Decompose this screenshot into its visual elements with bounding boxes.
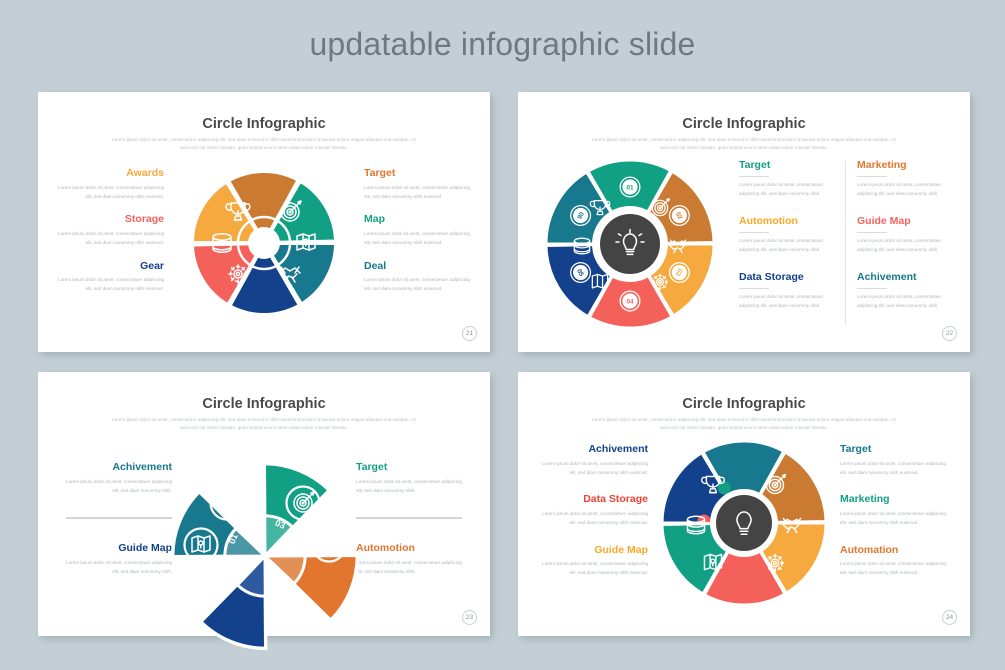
list-item[interactable]: Target Lorem ipsum dolor sit amet, conse… bbox=[840, 444, 946, 477]
list-item[interactable]: Awards Lorem ipsum dolor sit amet, conse… bbox=[58, 168, 164, 201]
item-label: Awards bbox=[58, 168, 164, 180]
list-item[interactable]: Marketing Lorem ipsum dolor sit amet, co… bbox=[840, 494, 946, 527]
left-column: Achivement Lorem ipsum dolor sit amet, c… bbox=[542, 444, 648, 578]
item-body: Lorem ipsum dolor sit amet, consectetuer… bbox=[840, 460, 946, 478]
item-body: Lorem ipsum dolor sit amet, consectetuer… bbox=[857, 293, 957, 311]
list-item[interactable]: Guide Map Lorem ipsum dolor sit amet, co… bbox=[857, 216, 957, 255]
center-disc bbox=[600, 214, 660, 274]
item-body: Lorem ipsum dolor sit amet, consectetuer… bbox=[857, 237, 957, 255]
list-item[interactable]: Guide Map Lorem ipsum dolor sit amet, co… bbox=[66, 543, 172, 576]
item-body: Lorem ipsum dolor sit amet, consectetuer… bbox=[364, 230, 470, 248]
right-text-column: Marketing Lorem ipsum dolor sit amet, co… bbox=[857, 160, 957, 311]
item-label: Achivement bbox=[66, 462, 172, 474]
divider bbox=[739, 288, 769, 290]
list-item[interactable]: Automotion Lorem ipsum dolor sit amet, c… bbox=[739, 216, 835, 255]
slide-subtitle: Lorem ipsum dolor sit amet, consectetuer… bbox=[589, 416, 899, 433]
semi-number-04: 04 bbox=[290, 532, 303, 545]
list-item[interactable]: Automotion Lorem ipsum dolor sit amet, c… bbox=[356, 543, 462, 576]
item-label: Guide Map bbox=[857, 216, 957, 228]
slide-title: Circle Infographic bbox=[38, 116, 490, 132]
semicircle-chart-23[interactable]: 01 02 03 04 bbox=[167, 456, 363, 566]
divider bbox=[857, 288, 887, 290]
item-body: Lorem ipsum dolor sit amet, consectetuer… bbox=[364, 184, 470, 202]
item-label: Achivement bbox=[857, 272, 957, 284]
slide-title: Circle Infographic bbox=[518, 396, 970, 412]
slide-title: Circle Infographic bbox=[518, 116, 970, 132]
item-body: Lorem ipsum dolor sit amet, consectetuer… bbox=[356, 478, 462, 496]
divider bbox=[66, 517, 172, 519]
semi-number-02: 02 bbox=[243, 518, 256, 531]
divider bbox=[857, 232, 887, 234]
item-body: Lorem ipsum dolor sit amet, consectetuer… bbox=[58, 230, 164, 248]
item-body: Lorem ipsum dolor sit amet, consectetuer… bbox=[364, 276, 470, 294]
right-column: Target Lorem ipsum dolor sit amet, conse… bbox=[364, 168, 470, 294]
slide-deck-canvas: updatable infographic slide Circle Infog… bbox=[0, 0, 1005, 670]
list-item[interactable]: Automation Lorem ipsum dolor sit amet, c… bbox=[840, 545, 946, 578]
slide-21[interactable]: Circle Infographic Lorem ipsum dolor sit… bbox=[38, 92, 490, 352]
item-label: Automotion bbox=[739, 216, 835, 228]
list-item[interactable]: Data Storage Lorem ipsum dolor sit amet,… bbox=[739, 272, 835, 311]
item-body: Lorem ipsum dolor sit amet, consectetuer… bbox=[58, 184, 164, 202]
page-number-badge: 22 bbox=[942, 326, 957, 341]
list-item[interactable]: Guide Map Lorem ipsum dolor sit amet, co… bbox=[542, 545, 648, 578]
slide-title: Circle Infographic bbox=[38, 396, 490, 412]
list-item[interactable]: Target Lorem ipsum dolor sit amet, conse… bbox=[364, 168, 470, 201]
center-disc bbox=[716, 495, 772, 551]
item-label: Data Storage bbox=[542, 494, 648, 506]
item-label: Target bbox=[356, 462, 462, 474]
item-label: Target bbox=[364, 168, 470, 180]
list-item[interactable]: Deal Lorem ipsum dolor sit amet, consect… bbox=[364, 261, 470, 294]
list-item[interactable]: Achivement Lorem ipsum dolor sit amet, c… bbox=[857, 272, 957, 311]
item-label: Automotion bbox=[356, 543, 462, 555]
pie-chart-21[interactable] bbox=[189, 168, 339, 318]
divider bbox=[739, 176, 769, 178]
inner-hub bbox=[248, 227, 280, 259]
list-item[interactable]: Achivement Lorem ipsum dolor sit amet, c… bbox=[66, 462, 172, 495]
badge-label: 01 bbox=[626, 184, 634, 191]
item-label: Marketing bbox=[857, 160, 957, 172]
left-column: Awards Lorem ipsum dolor sit amet, conse… bbox=[58, 168, 164, 294]
item-body: Lorem ipsum dolor sit amet, consectetuer… bbox=[857, 181, 957, 199]
slide-subtitle: Lorem ipsum dolor sit amet, consectetuer… bbox=[589, 136, 899, 153]
divider bbox=[857, 176, 887, 178]
item-body: Lorem ipsum dolor sit amet, consectetuer… bbox=[739, 181, 835, 199]
item-body: Lorem ipsum dolor sit amet, consectetuer… bbox=[840, 560, 946, 578]
list-item[interactable]: Data Storage Lorem ipsum dolor sit amet,… bbox=[542, 494, 648, 527]
item-body: Lorem ipsum dolor sit amet, consectetuer… bbox=[542, 510, 648, 528]
slide-22[interactable]: Circle Infographic Lorem ipsum dolor sit… bbox=[518, 92, 970, 352]
donut-chart-22[interactable]: 01 02 03 04 bbox=[544, 158, 716, 330]
item-body: Lorem ipsum dolor sit amet, consectetuer… bbox=[840, 510, 946, 528]
item-body: Lorem ipsum dolor sit amet, consectetuer… bbox=[66, 478, 172, 496]
list-item[interactable]: Map Lorem ipsum dolor sit amet, consecte… bbox=[364, 214, 470, 247]
item-body: Lorem ipsum dolor sit amet, consectetuer… bbox=[739, 237, 835, 255]
slide-subtitle: Lorem ipsum dolor sit amet, consectetuer… bbox=[109, 136, 419, 153]
list-item[interactable]: Achivement Lorem ipsum dolor sit amet, c… bbox=[542, 444, 648, 477]
list-item[interactable]: Gear Lorem ipsum dolor sit amet, consect… bbox=[58, 261, 164, 294]
right-column: Target Lorem ipsum dolor sit amet, conse… bbox=[840, 444, 946, 578]
item-label: Target bbox=[739, 160, 835, 172]
item-label: Data Storage bbox=[739, 272, 835, 284]
item-label: Achivement bbox=[542, 444, 648, 456]
icon-disc-achivement bbox=[211, 487, 244, 520]
item-body: Lorem ipsum dolor sit amet, consectetuer… bbox=[66, 559, 172, 577]
slide-23[interactable]: Circle Infographic Lorem ipsum dolor sit… bbox=[38, 372, 490, 636]
item-label: Map bbox=[364, 214, 470, 226]
item-label: Guide Map bbox=[542, 545, 648, 557]
list-item[interactable]: Target Lorem ipsum dolor sit amet, conse… bbox=[739, 160, 835, 199]
badge-label: 04 bbox=[626, 298, 634, 305]
left-text-column: Target Lorem ipsum dolor sit amet, conse… bbox=[739, 160, 835, 311]
slide-subtitle: Lorem ipsum dolor sit amet, consectetuer… bbox=[109, 416, 419, 433]
item-label: Target bbox=[840, 444, 946, 456]
slide-24[interactable]: Circle Infographic Lorem ipsum dolor sit… bbox=[518, 372, 970, 636]
page-number-badge: 23 bbox=[462, 610, 477, 625]
item-body: Lorem ipsum dolor sit amet, consectetuer… bbox=[356, 559, 462, 577]
item-label: Gear bbox=[58, 261, 164, 273]
badge-01[interactable]: 01 bbox=[620, 177, 641, 198]
page-number-badge: 21 bbox=[462, 326, 477, 341]
divider bbox=[739, 232, 769, 234]
item-label: Deal bbox=[364, 261, 470, 273]
item-body: Lorem ipsum dolor sit amet, consectetuer… bbox=[542, 560, 648, 578]
item-body: Lorem ipsum dolor sit amet, consectetuer… bbox=[58, 276, 164, 294]
vertical-divider bbox=[845, 160, 846, 325]
right-column: Target Lorem ipsum dolor sit amet, conse… bbox=[356, 462, 462, 577]
item-label: Automation bbox=[840, 545, 946, 557]
item-body: Lorem ipsum dolor sit amet, consectetuer… bbox=[739, 293, 835, 311]
item-body: Lorem ipsum dolor sit amet, consectetuer… bbox=[542, 460, 648, 478]
list-item[interactable]: Marketing Lorem ipsum dolor sit amet, co… bbox=[857, 160, 957, 199]
left-column: Achivement Lorem ipsum dolor sit amet, c… bbox=[66, 462, 172, 577]
puzzle-chart-24[interactable] bbox=[659, 438, 829, 608]
list-item[interactable]: Target Lorem ipsum dolor sit amet, conse… bbox=[356, 462, 462, 495]
badge-04[interactable]: 04 bbox=[620, 291, 641, 312]
page-title: updatable infographic slide bbox=[0, 26, 1005, 63]
item-label: Storage bbox=[58, 214, 164, 226]
page-number-badge: 24 bbox=[942, 610, 957, 625]
item-label: Marketing bbox=[840, 494, 946, 506]
divider bbox=[356, 517, 462, 519]
item-label: Guide Map bbox=[66, 543, 172, 555]
list-item[interactable]: Storage Lorem ipsum dolor sit amet, cons… bbox=[58, 214, 164, 247]
